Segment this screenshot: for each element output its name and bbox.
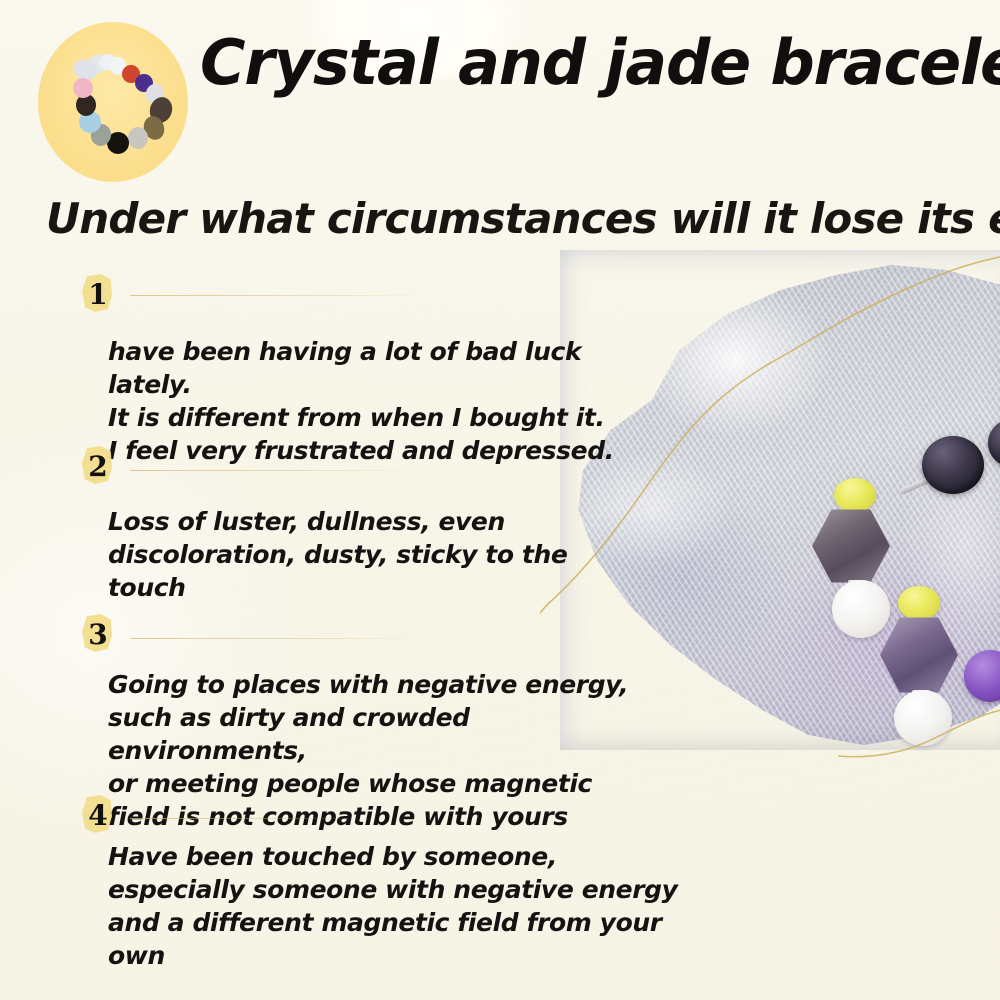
- badge-label: 1: [78, 272, 116, 316]
- badge-number-3: 3: [78, 612, 118, 656]
- divider-1: [130, 295, 420, 296]
- page-title: Crystal and jade bracelets: [200, 26, 990, 99]
- badge-label: 2: [78, 444, 116, 488]
- divider-3: [130, 638, 420, 639]
- item-text-2: Loss of luster, dullness, even discolora…: [108, 505, 628, 604]
- bracelet-logo: [38, 22, 188, 182]
- divider-4: [130, 818, 360, 819]
- bead-dark-main: [922, 436, 984, 494]
- bead-white-jade-1: [832, 580, 890, 638]
- badge-label: 3: [78, 612, 116, 656]
- poster-canvas: Crystal and jade bracelets Under what ci…: [0, 0, 1000, 1000]
- bead-white-jade-2: [894, 690, 952, 746]
- divider-2: [130, 470, 420, 471]
- page-subtitle: Under what circumstances will it lose it…: [46, 194, 996, 243]
- badge-number-4: 4: [78, 793, 118, 837]
- badge-number-1: 1: [78, 272, 118, 316]
- item-text-1: have been having a lot of bad luck latel…: [108, 335, 628, 467]
- bracelet-icon: [38, 22, 188, 182]
- bead-citrine-2: [898, 586, 940, 620]
- item-text-3: Going to places with negative energy, su…: [108, 668, 668, 833]
- badge-number-2: 2: [78, 444, 118, 488]
- item-text-4: Have been touched by someone, especially…: [108, 840, 708, 972]
- badge-label: 4: [78, 793, 116, 837]
- bead-citrine-1: [834, 478, 876, 512]
